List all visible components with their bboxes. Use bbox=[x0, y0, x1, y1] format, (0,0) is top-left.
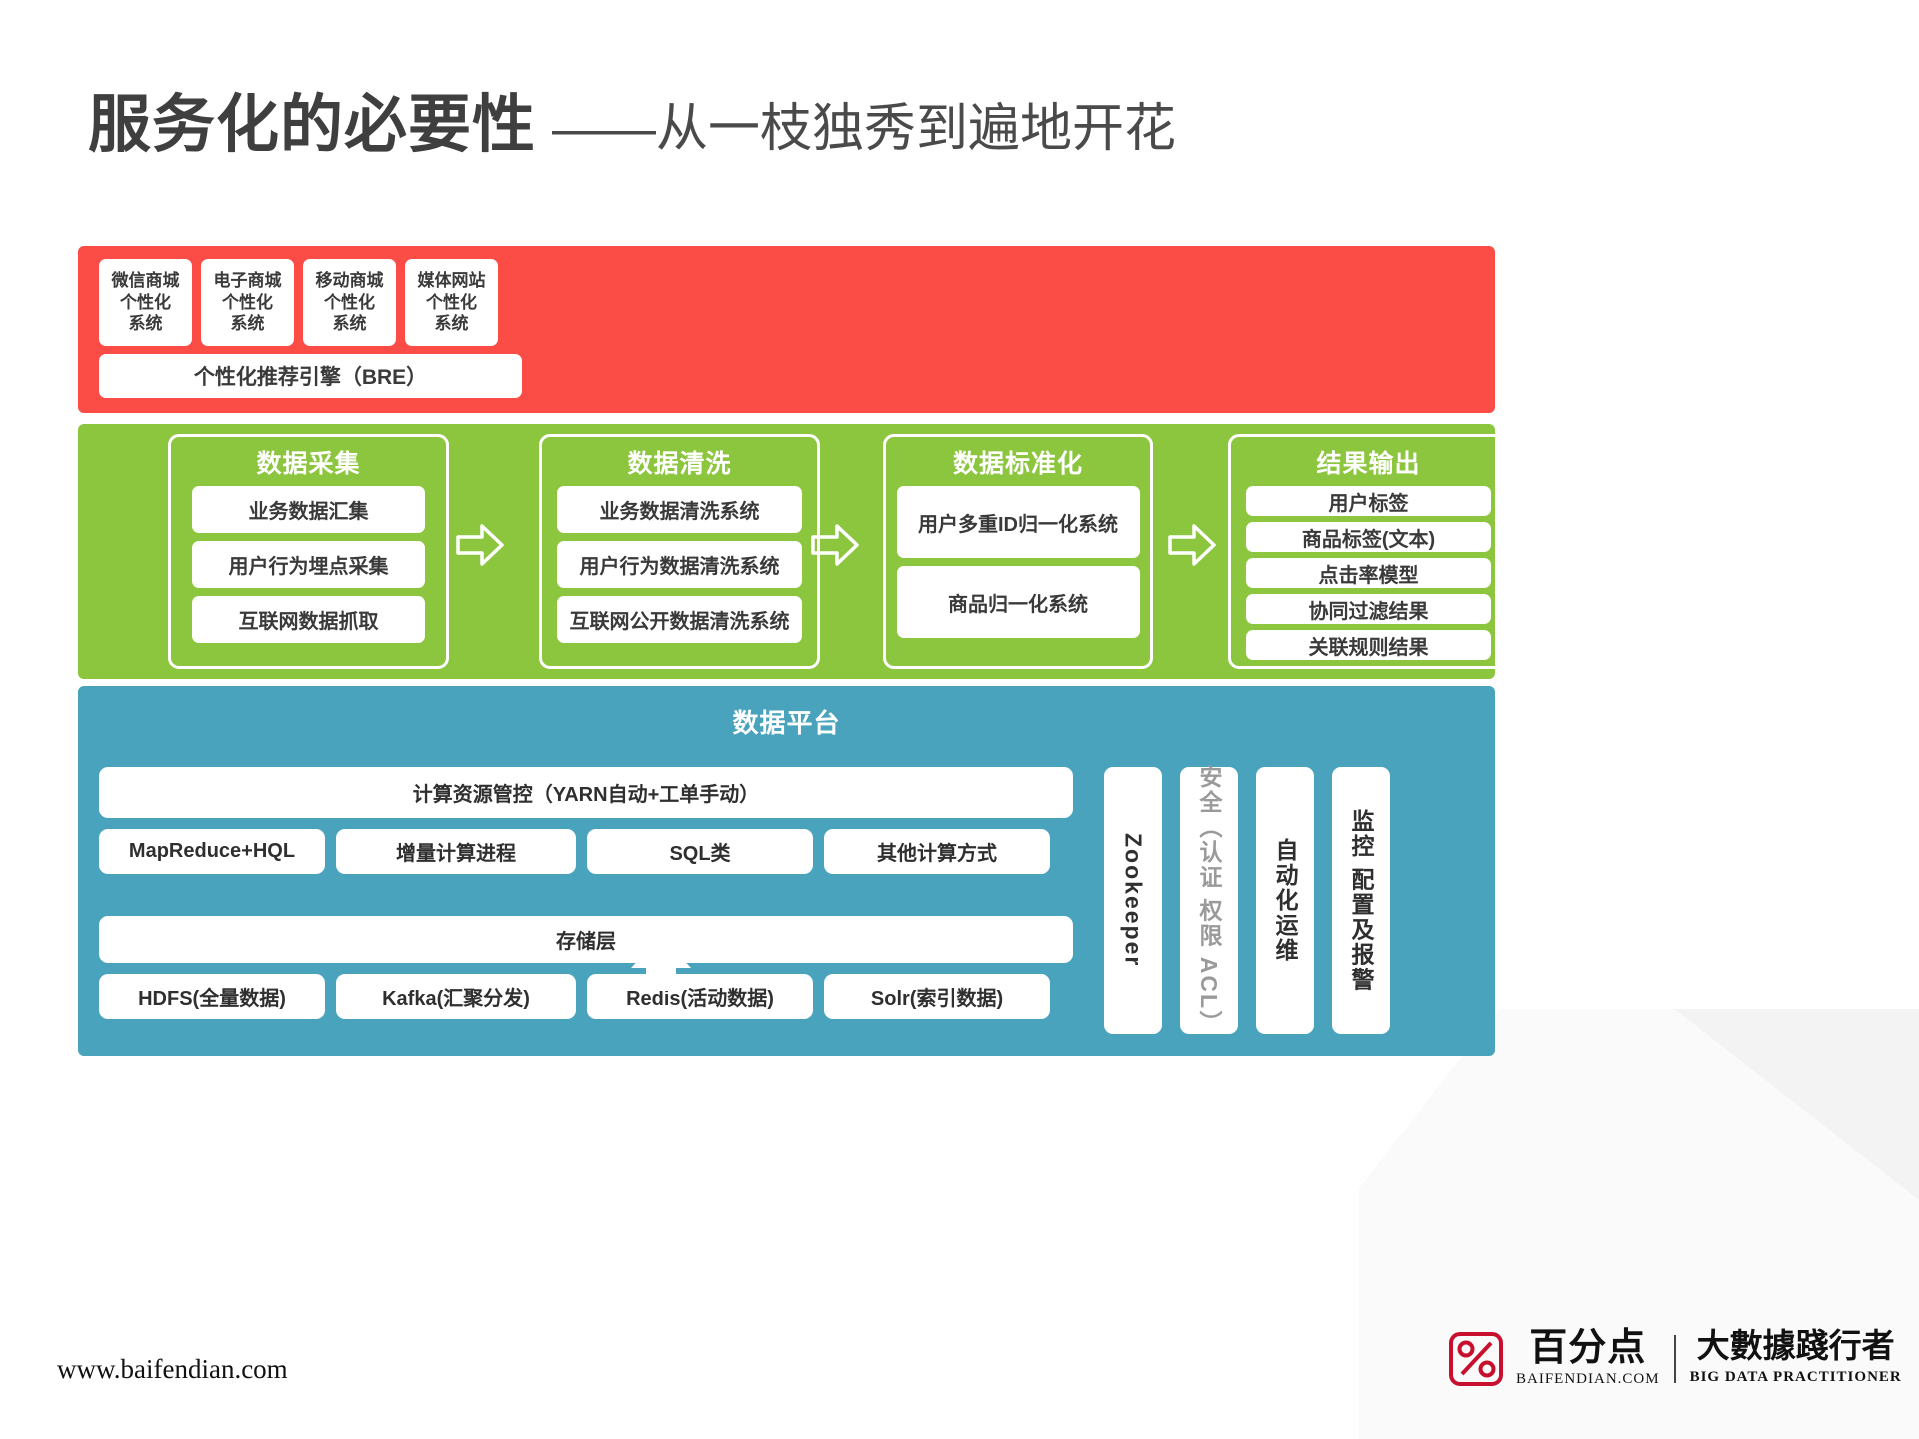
application-box-line: 微信商城 bbox=[112, 270, 180, 291]
pipeline-column: 结果输出用户标签商品标签(文本)点击率模型协同过滤结果关联规则结果 bbox=[1228, 434, 1509, 669]
platform-side-module[interactable]: Zookeeper bbox=[1104, 767, 1162, 1034]
application-box-line: 电子商城 bbox=[214, 270, 282, 291]
pipeline-arrow-icon bbox=[811, 524, 859, 566]
storage-item-box[interactable]: Redis(活动数据) bbox=[587, 974, 813, 1019]
pipeline-column: 数据标准化用户多重ID归一化系统商品归一化系统 bbox=[883, 434, 1153, 669]
platform-side-modules: Zookeeper安全（认证 权限 ACL）自动化运维监控 配置及报警 bbox=[1104, 767, 1390, 1034]
storage-items-row: HDFS(全量数据)Kafka(汇聚分发)Redis(活动数据)Solr(索引数… bbox=[99, 974, 1073, 1019]
resource-control-box[interactable]: 计算资源管控（YARN自动+工单手动） bbox=[99, 767, 1073, 818]
recommendation-engine-box[interactable]: 个性化推荐引擎（BRE） bbox=[99, 354, 522, 398]
pipeline-arrow-icon bbox=[1168, 524, 1216, 566]
pipeline-item[interactable]: 点击率模型 bbox=[1246, 558, 1491, 588]
pipeline-item[interactable]: 互联网公开数据清洗系统 bbox=[557, 596, 802, 643]
footer-website-url[interactable]: www.baifendian.com bbox=[57, 1354, 288, 1385]
pipeline-column-title: 结果输出 bbox=[1231, 444, 1506, 480]
platform-main-column: 计算资源管控（YARN自动+工单手动） MapReduce+HQL增量计算进程S… bbox=[99, 767, 1073, 1019]
application-box-line: 个性化 bbox=[426, 292, 477, 313]
page-title-subtitle: ——从一枝独秀到遍地开花 bbox=[552, 86, 1176, 161]
pipeline-item[interactable]: 业务数据清洗系统 bbox=[557, 486, 802, 533]
application-box[interactable]: 移动商城个性化系统 bbox=[303, 259, 396, 346]
pipeline-item[interactable]: 协同过滤结果 bbox=[1246, 594, 1491, 624]
application-layer-band: 微信商城个性化系统电子商城个性化系统移动商城个性化系统媒体网站个性化系统 个性化… bbox=[78, 246, 1495, 413]
application-boxes: 微信商城个性化系统电子商城个性化系统移动商城个性化系统媒体网站个性化系统 bbox=[99, 259, 498, 346]
platform-layer-band: 数据平台 计算资源管控（YARN自动+工单手动） MapReduce+HQL增量… bbox=[78, 686, 1495, 1056]
logo-divider bbox=[1674, 1335, 1676, 1383]
percent-logo-icon bbox=[1448, 1331, 1504, 1387]
pipeline-item[interactable]: 商品标签(文本) bbox=[1246, 522, 1491, 552]
pipeline-item[interactable]: 用户多重ID归一化系统 bbox=[897, 486, 1140, 558]
pipeline-columns: 数据采集业务数据汇集用户行为埋点采集互联网数据抓取数据清洗业务数据清洗系统用户行… bbox=[78, 424, 1495, 679]
application-box-line: 媒体网站 bbox=[418, 270, 486, 291]
pipeline-item[interactable]: 用户行为数据清洗系统 bbox=[557, 541, 802, 588]
logo-slogan-en: BIG DATA PRACTITIONER bbox=[1690, 1369, 1902, 1386]
application-box[interactable]: 媒体网站个性化系统 bbox=[405, 259, 498, 346]
application-box[interactable]: 微信商城个性化系统 bbox=[99, 259, 192, 346]
platform-side-module-label: Zookeeper bbox=[1120, 833, 1147, 967]
application-box-line: 移动商城 bbox=[316, 270, 384, 291]
pipeline-item[interactable]: 业务数据汇集 bbox=[192, 486, 425, 533]
compute-engine-row: MapReduce+HQL增量计算进程SQL类其他计算方式 bbox=[99, 829, 1073, 874]
pipeline-item[interactable]: 用户标签 bbox=[1246, 486, 1491, 516]
pipeline-arrow-icon bbox=[456, 524, 504, 566]
platform-side-module-label: 监控 配置及报警 bbox=[1344, 809, 1378, 992]
application-box-line: 系统 bbox=[231, 313, 265, 334]
pipeline-column-title: 数据标准化 bbox=[886, 444, 1150, 480]
pipeline-item[interactable]: 关联规则结果 bbox=[1246, 630, 1491, 660]
pipeline-item[interactable]: 互联网数据抓取 bbox=[192, 596, 425, 643]
storage-item-box[interactable]: HDFS(全量数据) bbox=[99, 974, 325, 1019]
application-box-line: 个性化 bbox=[120, 292, 171, 313]
application-box-line: 系统 bbox=[129, 313, 163, 334]
pipeline-column-title: 数据采集 bbox=[171, 444, 446, 480]
pipeline-layer-band: 数据采集业务数据汇集用户行为埋点采集互联网数据抓取数据清洗业务数据清洗系统用户行… bbox=[78, 424, 1495, 679]
storage-item-box[interactable]: Kafka(汇聚分发) bbox=[336, 974, 576, 1019]
compute-engine-box[interactable]: 增量计算进程 bbox=[336, 829, 576, 874]
page-title: 服务化的必要性 ——从一枝独秀到遍地开花 bbox=[88, 74, 1176, 165]
application-box[interactable]: 电子商城个性化系统 bbox=[201, 259, 294, 346]
company-logo: 百分点 BAIFENDIAN.COM 大數據踐行者 BIG DATA PRACT… bbox=[1448, 1329, 1902, 1388]
application-box-line: 个性化 bbox=[324, 292, 375, 313]
storage-layer-box[interactable]: 存储层 bbox=[99, 916, 1073, 963]
compute-engine-box[interactable]: MapReduce+HQL bbox=[99, 829, 325, 874]
platform-side-module[interactable]: 安全（认证 权限 ACL） bbox=[1180, 767, 1238, 1034]
pipeline-column: 数据清洗业务数据清洗系统用户行为数据清洗系统互联网公开数据清洗系统 bbox=[539, 434, 820, 669]
page-title-main: 服务化的必要性 bbox=[88, 74, 536, 165]
logo-slogan-cn: 大數據踐行者 bbox=[1697, 1331, 1895, 1364]
up-arrow-icon bbox=[629, 934, 693, 991]
pipeline-column-title: 数据清洗 bbox=[542, 444, 817, 480]
application-box-line: 系统 bbox=[435, 313, 469, 334]
platform-side-module-label: 自动化运维 bbox=[1268, 838, 1302, 963]
logo-brand-cn: 百分点 bbox=[1529, 1329, 1646, 1367]
application-box-line: 系统 bbox=[333, 313, 367, 334]
pipeline-item[interactable]: 用户行为埋点采集 bbox=[192, 541, 425, 588]
logo-brand-en: BAIFENDIAN.COM bbox=[1516, 1371, 1660, 1388]
pipeline-item[interactable]: 商品归一化系统 bbox=[897, 566, 1140, 638]
storage-item-box[interactable]: Solr(索引数据) bbox=[824, 974, 1050, 1019]
application-box-line: 个性化 bbox=[222, 292, 273, 313]
platform-title: 数据平台 bbox=[78, 686, 1495, 740]
platform-side-module-label: 安全（认证 权限 ACL） bbox=[1192, 765, 1226, 1035]
pipeline-column: 数据采集业务数据汇集用户行为埋点采集互联网数据抓取 bbox=[168, 434, 449, 669]
platform-side-module[interactable]: 自动化运维 bbox=[1256, 767, 1314, 1034]
platform-side-module[interactable]: 监控 配置及报警 bbox=[1332, 767, 1390, 1034]
compute-engine-box[interactable]: 其他计算方式 bbox=[824, 829, 1050, 874]
compute-engine-box[interactable]: SQL类 bbox=[587, 829, 813, 874]
